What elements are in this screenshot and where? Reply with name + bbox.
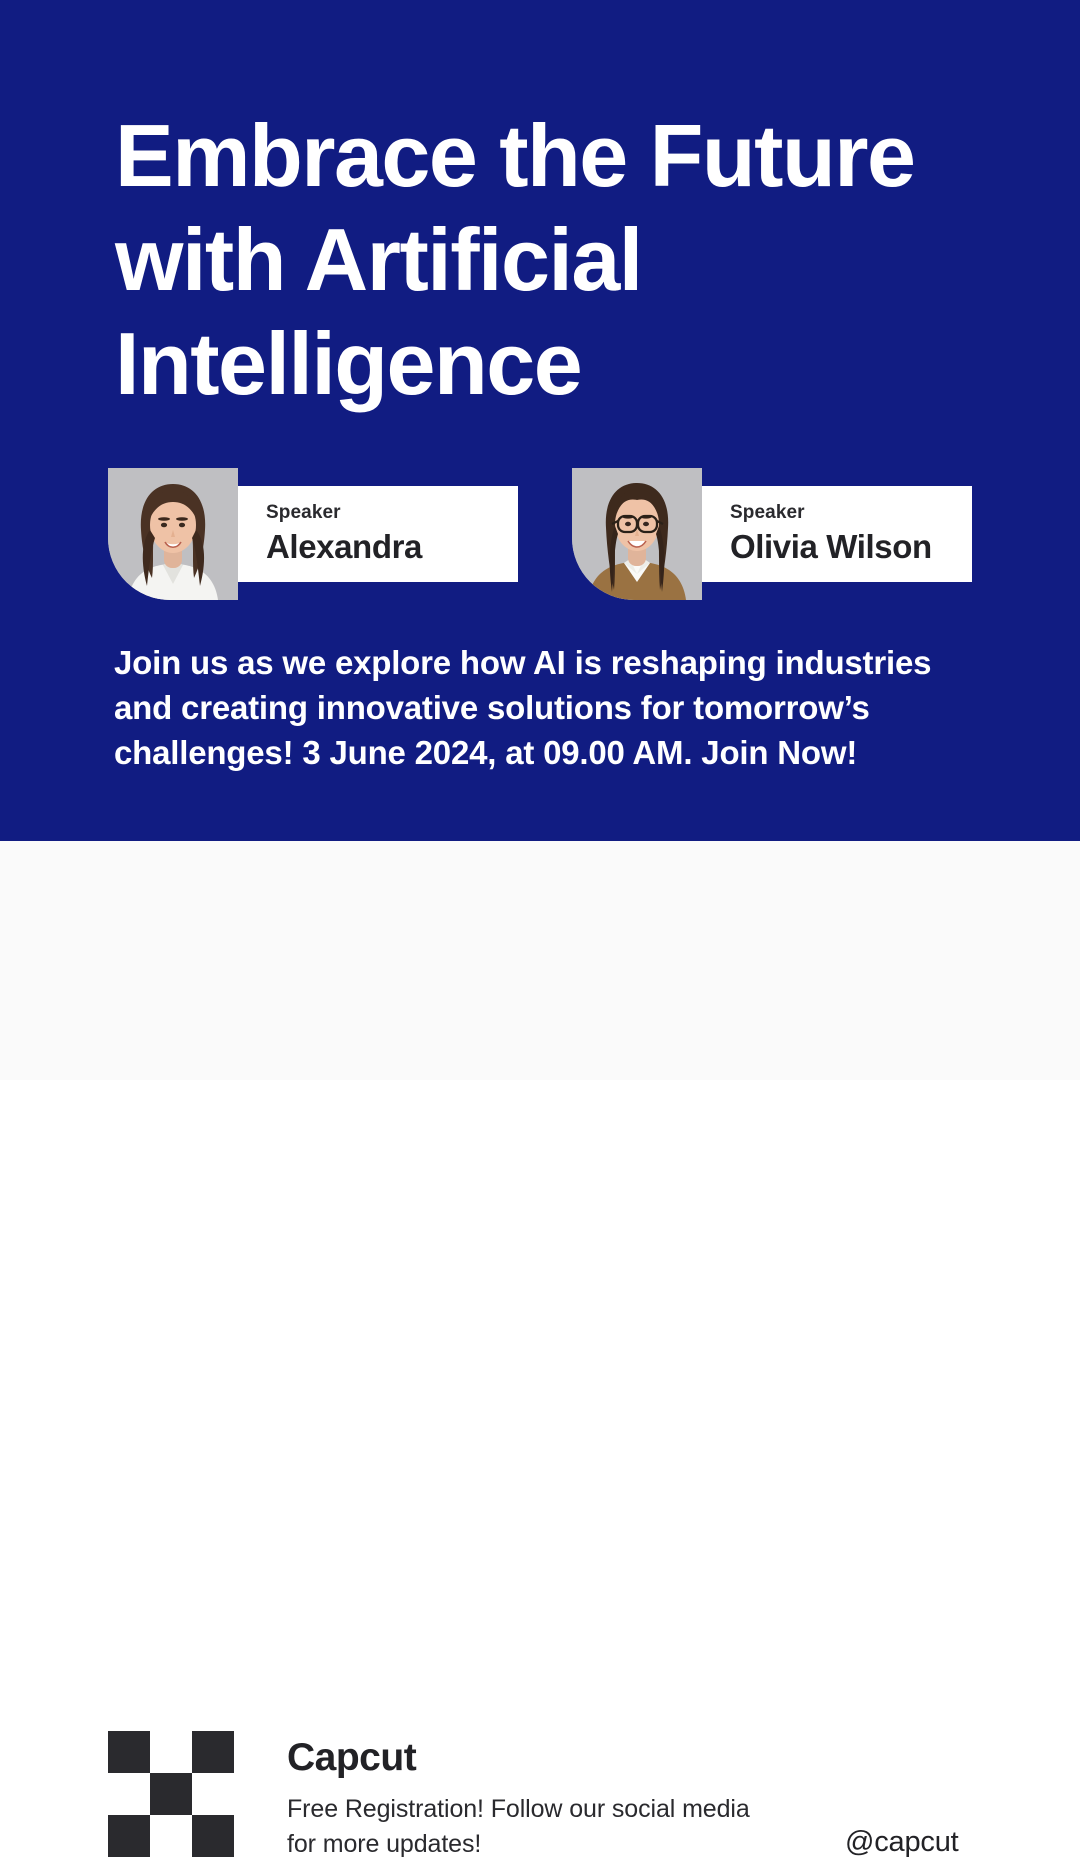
logo-cell	[108, 1815, 150, 1857]
speaker-card: Speaker Alexandra	[108, 468, 518, 600]
avatar	[572, 468, 702, 600]
event-poster: Embrace the Future with Artificial Intel…	[0, 0, 1080, 1080]
logo-cell	[108, 1773, 150, 1815]
hero-panel: Embrace the Future with Artificial Intel…	[0, 0, 1080, 841]
page-title: Embrace the Future with Artificial Intel…	[115, 104, 1015, 416]
speaker-card: Speaker Olivia Wilson	[572, 468, 972, 600]
social-handle: @capcut	[845, 1826, 958, 1859]
brand-name: Capcut	[287, 1734, 767, 1782]
speaker-info: Speaker Alexandra	[238, 486, 518, 582]
logo-cell	[150, 1773, 192, 1815]
logo-cell	[192, 1815, 234, 1857]
logo-cell	[108, 1731, 150, 1773]
logo-cell	[192, 1773, 234, 1815]
speaker-role-label: Speaker	[730, 501, 972, 525]
speaker-name: Olivia Wilson	[730, 527, 972, 567]
speaker-name: Alexandra	[266, 527, 518, 567]
logo-cell	[150, 1731, 192, 1773]
speaker-info: Speaker Olivia Wilson	[702, 486, 972, 582]
brand-tagline: Free Registration! Follow our social med…	[287, 1792, 767, 1862]
logo-cell	[192, 1731, 234, 1773]
avatar	[108, 468, 238, 600]
logo-cell	[150, 1815, 192, 1857]
brand-block: Capcut Free Registration! Follow our soc…	[287, 1734, 767, 1862]
checkerboard-logo-icon	[108, 1731, 234, 1857]
speaker-list: Speaker Alexandra	[108, 468, 988, 600]
event-description: Join us as we explore how AI is reshapin…	[114, 640, 994, 775]
speaker-role-label: Speaker	[266, 501, 518, 525]
footer-panel: Capcut Free Registration! Follow our soc…	[0, 841, 1080, 1080]
